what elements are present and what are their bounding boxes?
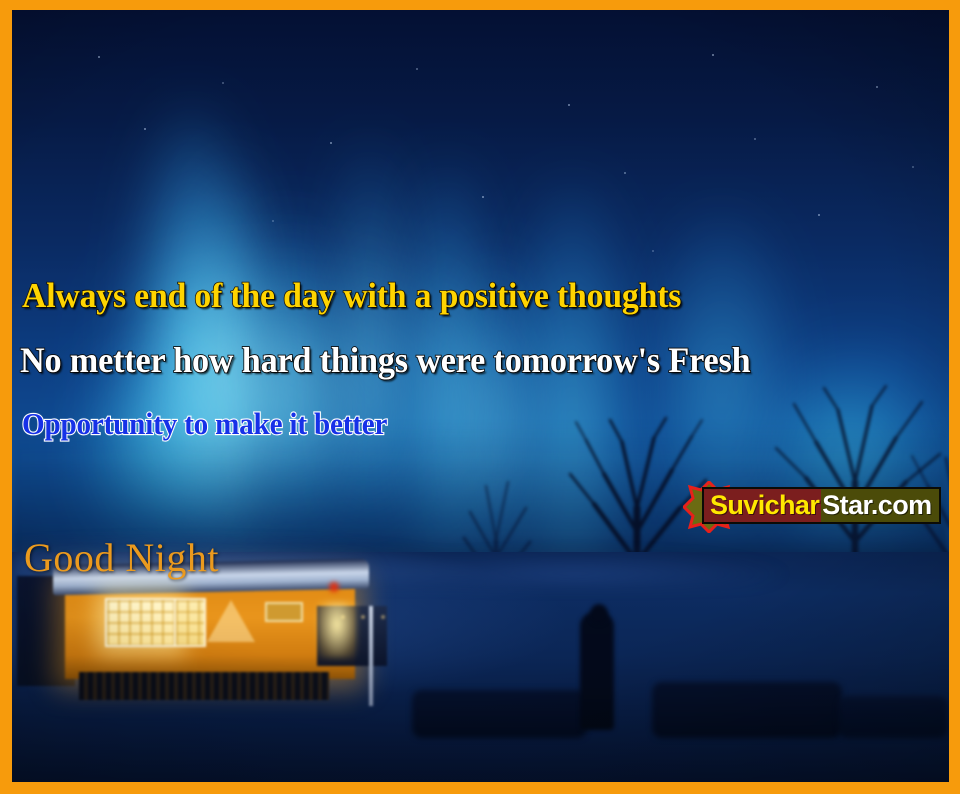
snowmobile-silhouette bbox=[652, 682, 842, 738]
cabin-leaning-ladder bbox=[207, 600, 255, 642]
star-speck bbox=[876, 86, 878, 88]
person-silhouette bbox=[580, 612, 614, 730]
photo-canvas: Always end of the day with a positive th… bbox=[12, 10, 949, 782]
cabin-side-window bbox=[174, 598, 206, 647]
cabin-doorway-glow bbox=[317, 602, 357, 658]
star-speck bbox=[416, 68, 418, 70]
star-speck bbox=[272, 220, 274, 222]
star-speck bbox=[754, 138, 756, 140]
poster-image: Always end of the day with a positive th… bbox=[0, 0, 960, 794]
star-speck bbox=[144, 128, 146, 130]
quote-line-3: Opportunity to make it better bbox=[22, 408, 387, 439]
cabin-wall-sign bbox=[265, 602, 303, 622]
quote-line-2: No metter how hard things were tomorrow'… bbox=[20, 342, 750, 378]
watermark-name-bar: Suvichar Star.com bbox=[702, 487, 941, 524]
star-speck bbox=[912, 166, 914, 168]
star-speck bbox=[568, 104, 570, 106]
person-head-silhouette bbox=[590, 604, 608, 624]
star-speck bbox=[624, 172, 626, 174]
star-speck bbox=[330, 142, 332, 144]
star-speck bbox=[482, 196, 484, 198]
star-speck bbox=[652, 250, 654, 252]
watermark-logo[interactable]: Suvichar Star.com bbox=[683, 478, 949, 534]
utility-pole bbox=[369, 606, 373, 706]
good-night-greeting: Good Night bbox=[24, 534, 219, 581]
watermark-name-secondary: Star.com bbox=[821, 489, 938, 522]
cabin-main-window bbox=[105, 598, 177, 647]
star-speck bbox=[712, 54, 714, 56]
star-speck bbox=[98, 56, 100, 58]
star-speck bbox=[818, 214, 820, 216]
snowmobile-silhouette bbox=[412, 690, 587, 738]
cabin-red-light bbox=[329, 582, 339, 592]
snowmobile-silhouette bbox=[838, 696, 948, 738]
watermark-name-primary: Suvichar bbox=[704, 489, 821, 522]
cabin-deck-railing bbox=[79, 672, 329, 700]
quote-line-1: Always end of the day with a positive th… bbox=[22, 278, 681, 313]
star-speck bbox=[222, 82, 224, 84]
